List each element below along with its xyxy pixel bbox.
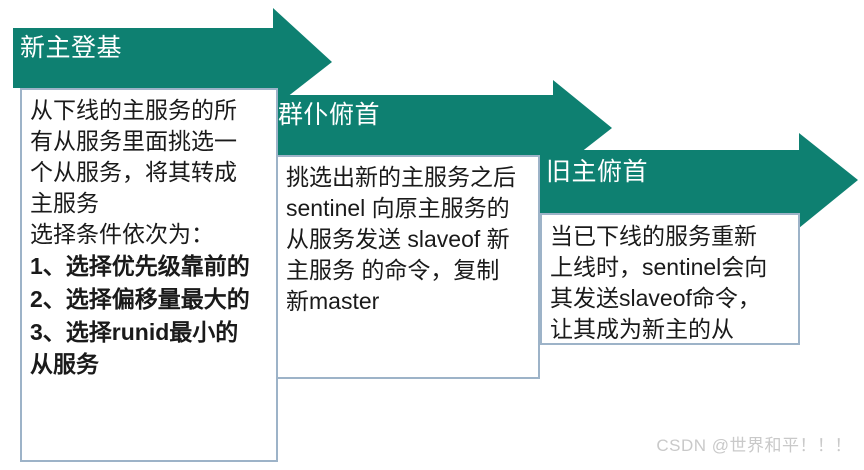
body-line: sentinel 向原主服务的 — [286, 193, 534, 224]
body-line: 其发送slaveof命令， — [550, 283, 794, 314]
arrow-title-2: 群仆俯首 — [278, 103, 380, 128]
body-line: 从下线的主服务的所 — [30, 95, 272, 126]
arrow-title-3: 旧主俯首 — [546, 160, 648, 185]
stage-text-box-2: 挑选出新的主服务之后sentinel 向原主服务的从服务发送 slaveof 新… — [276, 155, 540, 379]
body-line: 选择条件依次为： — [30, 219, 272, 250]
stage-body-1: 从下线的主服务的所有从服务里面挑选一个从服务，将其转成主服务选择条件依次为：1、… — [22, 90, 276, 383]
stage-text-box-3: 当已下线的服务重新上线时，sentinel会向其发送slaveof命令，让其成为… — [540, 213, 800, 345]
body-line: 从服务 — [30, 349, 272, 379]
body-line: 1、选择优先级靠前的 — [30, 250, 272, 283]
body-line: 有从服务里面挑选一 — [30, 126, 272, 157]
body-line: 上线时，sentinel会向 — [550, 252, 794, 283]
stage-text-box-1: 从下线的主服务的所有从服务里面挑选一个从服务，将其转成主服务选择条件依次为：1、… — [20, 88, 278, 462]
body-line: 从服务发送 slaveof 新 — [286, 224, 534, 255]
body-line: 让其成为新主的从 — [550, 314, 794, 345]
body-line: 3、选择runid最小的 — [30, 316, 272, 349]
body-line: 个从服务，将其转成 — [30, 157, 272, 188]
body-line: 2、选择偏移量最大的 — [30, 283, 272, 316]
stage-body-2: 挑选出新的主服务之后sentinel 向原主服务的从服务发送 slaveof 新… — [278, 157, 538, 321]
body-line: 新master — [286, 286, 534, 317]
body-line: 主服务 — [30, 188, 272, 219]
body-line: 主服务 的命令，复制 — [286, 255, 534, 286]
body-line: 当已下线的服务重新 — [550, 221, 794, 252]
csdn-watermark: CSDN @世界和平！！！ — [656, 431, 852, 456]
stage-body-3: 当已下线的服务重新上线时，sentinel会向其发送slaveof命令，让其成为… — [542, 215, 798, 349]
arrow-title-1: 新主登基 — [20, 36, 122, 61]
diagram-canvas: 新主登基 群仆俯首 旧主俯首 从下线的主服务的所有从服务里面挑选一个从服务，将其… — [0, 0, 864, 470]
body-line: 挑选出新的主服务之后 — [286, 162, 534, 193]
